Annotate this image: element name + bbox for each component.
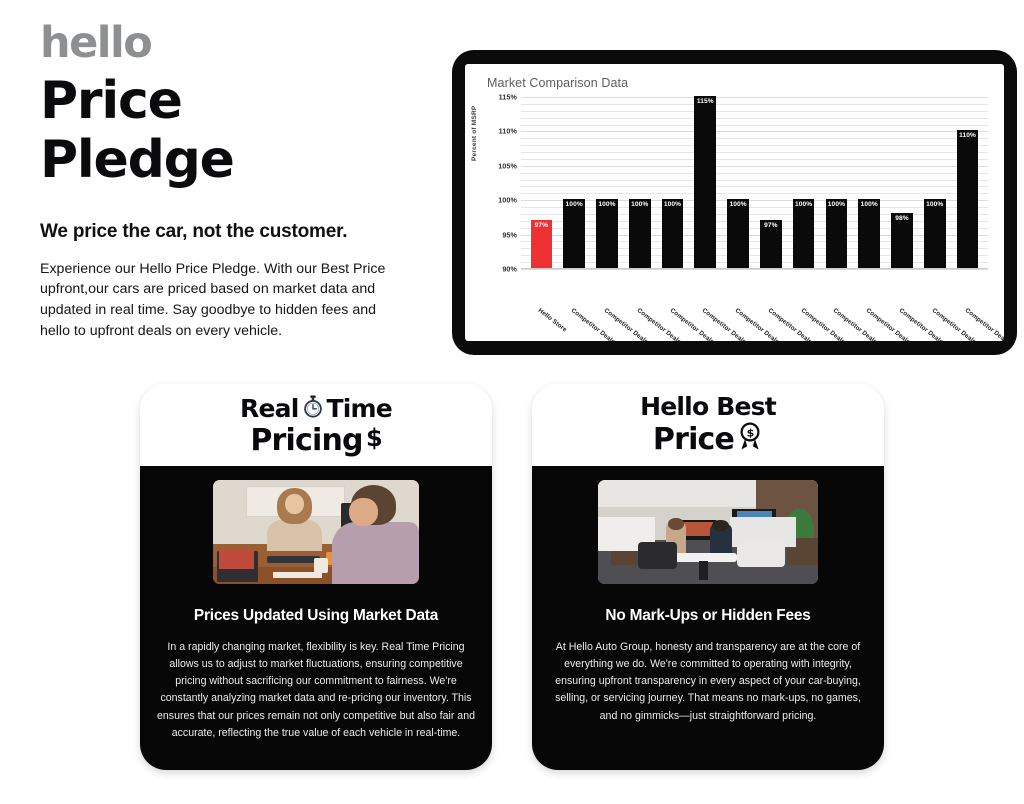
chart-bar-slot: 100% bbox=[591, 97, 624, 268]
card-right-body-text: At Hello Auto Group, honesty and transpa… bbox=[548, 639, 868, 725]
chart-bar-value-label: 100% bbox=[629, 201, 651, 208]
chart-bar[interactable]: 100% bbox=[793, 199, 815, 268]
hero-body-text: Experience our Hello Price Pledge. With … bbox=[40, 259, 398, 343]
chart-x-label-slot: Competitor Dealership bbox=[754, 305, 787, 341]
chart-y-tick: 100% bbox=[498, 196, 517, 205]
award-ribbon-icon: $ bbox=[737, 421, 763, 458]
card-right-head-line-2: Price $ bbox=[653, 421, 763, 458]
chart-bar-value-label: 100% bbox=[662, 201, 684, 208]
chart-bar-value-label: 97% bbox=[760, 222, 782, 229]
chart-bar[interactable]: 100% bbox=[727, 199, 749, 268]
chart-bar-slot: 100% bbox=[787, 97, 820, 268]
chart-y-tick: 95% bbox=[502, 230, 517, 239]
card-left-body-text: In a rapidly changing market, flexibilit… bbox=[156, 639, 476, 742]
chart-bar-value-label: 100% bbox=[858, 201, 880, 208]
chart-bar-slot: 100% bbox=[853, 97, 886, 268]
chart-x-label-slot: Competitor Dealership bbox=[886, 305, 919, 341]
chart-bar-slot: 97% bbox=[754, 97, 787, 268]
chart-bar[interactable]: 100% bbox=[858, 199, 880, 268]
svg-text:$: $ bbox=[366, 425, 382, 451]
card-header-left: Real Time Pricing $ bbox=[140, 384, 492, 466]
feature-card-hello-best-price: Hello Best Price $ bbox=[532, 384, 884, 770]
page-title-line-2: Pledge bbox=[40, 131, 440, 190]
chart-bar[interactable]: 100% bbox=[596, 199, 618, 268]
chart-plot-area: Percent of MSRP 90%95%100%105%110%115% 9… bbox=[465, 97, 1004, 307]
chart-bar[interactable]: 110% bbox=[957, 130, 979, 268]
card-left-head-word-3: Pricing bbox=[250, 425, 362, 457]
card-left-head-word-2: Time bbox=[327, 396, 392, 422]
chart-bar-slot: 98% bbox=[886, 97, 919, 268]
chart-bar[interactable]: 100% bbox=[629, 199, 651, 268]
chart-x-tick-label: Competitor Dealership bbox=[963, 307, 1004, 341]
chart-bar-slot: 100% bbox=[656, 97, 689, 268]
card-right-heading: No Mark-Ups or Hidden Fees bbox=[605, 607, 810, 625]
chart-x-label-slot: Competitor Dealership bbox=[787, 305, 820, 341]
chart-bar-value-label: 115% bbox=[694, 98, 716, 105]
chart-bar[interactable]: 115% bbox=[694, 96, 716, 268]
card-right-head-line-1: Hello Best bbox=[640, 394, 776, 420]
card-left-head-line-2: Pricing $ bbox=[250, 425, 381, 458]
chart-x-label-slot: Competitor Dealership bbox=[853, 305, 886, 341]
tablet-device-frame: Market Comparison Data Percent of MSRP 9… bbox=[452, 50, 1017, 355]
chart-plot: 97%100%100%100%100%115%100%97%100%100%10… bbox=[521, 97, 988, 269]
chart-bar[interactable]: 98% bbox=[891, 213, 913, 268]
chart-y-tick: 105% bbox=[498, 161, 517, 170]
chart-x-label-slot: Competitor Dealership bbox=[918, 305, 951, 341]
hero-section: hello Price Pledge We price the car, not… bbox=[40, 22, 440, 342]
chart-bar[interactable]: 100% bbox=[563, 199, 585, 268]
chart-gridline bbox=[521, 269, 988, 270]
chart-x-label-slot: Competitor Dealership bbox=[951, 305, 984, 341]
chart-y-tick: 115% bbox=[499, 93, 517, 102]
card-body-left: Prices Updated Using Market Data In a ra… bbox=[140, 466, 492, 770]
card-left-head-line-1: Real Time bbox=[240, 395, 392, 424]
chart-bar-value-label: 100% bbox=[563, 201, 585, 208]
chart-bar-slot: 100% bbox=[623, 97, 656, 268]
chart-bar[interactable]: 97% bbox=[531, 220, 553, 268]
chart-x-label-slot: Competitor Dealership bbox=[623, 305, 656, 341]
chart-bar-slot: 100% bbox=[820, 97, 853, 268]
card-left-head-word-1: Real bbox=[240, 396, 298, 422]
chart-x-label-slot: Competitor Dealership bbox=[689, 305, 722, 341]
chart-bar[interactable]: 100% bbox=[662, 199, 684, 268]
chart-y-tick: 90% bbox=[502, 265, 517, 274]
chart-x-label-slot: Competitor Dealership bbox=[656, 305, 689, 341]
dollar-sign-icon: $ bbox=[366, 425, 382, 458]
card-right-photo bbox=[598, 480, 818, 584]
chart-title: Market Comparison Data bbox=[487, 76, 628, 90]
chart-x-label-slot: Competitor Dealership bbox=[558, 305, 591, 341]
card-right-head-word-2: Price bbox=[653, 424, 734, 456]
chart-bar-value-label: 100% bbox=[727, 201, 749, 208]
card-header-right: Hello Best Price $ bbox=[532, 384, 884, 466]
chart-bar-slot: 97% bbox=[525, 97, 558, 268]
hello-logo: hello bbox=[40, 22, 440, 65]
chart-bar-value-label: 98% bbox=[891, 215, 913, 222]
chart-x-label-slot: Competitor Dealership bbox=[722, 305, 755, 341]
chart-bars: 97%100%100%100%100%115%100%97%100%100%10… bbox=[521, 97, 988, 268]
chart-bar-value-label: 97% bbox=[531, 222, 553, 229]
chart-x-label-slot: Competitor Dealership bbox=[591, 305, 624, 341]
chart-y-tick: 110% bbox=[499, 127, 517, 136]
page-title-line-1: Price bbox=[40, 72, 440, 131]
chart-bar-slot: 100% bbox=[558, 97, 591, 268]
chart-bar-slot: 110% bbox=[951, 97, 984, 268]
chart-bar-slot: 115% bbox=[689, 97, 722, 268]
chart-bar[interactable]: 100% bbox=[924, 199, 946, 268]
hero-subheadline: We price the car, not the customer. bbox=[40, 221, 440, 243]
chart-bar-slot: 100% bbox=[722, 97, 755, 268]
card-body-right: No Mark-Ups or Hidden Fees At Hello Auto… bbox=[532, 466, 884, 770]
chart-y-axis-label: Percent of MSRP bbox=[471, 106, 478, 161]
chart-bar-value-label: 110% bbox=[957, 132, 979, 139]
price-pledge-page: hello Price Pledge We price the car, not… bbox=[0, 0, 1024, 804]
feature-card-real-time-pricing: Real Time Pricing $ bbox=[140, 384, 492, 770]
tablet-screen: Market Comparison Data Percent of MSRP 9… bbox=[465, 64, 1004, 341]
chart-bar[interactable]: 100% bbox=[826, 199, 848, 268]
chart-x-label-slot: Competitor Dealership bbox=[820, 305, 853, 341]
chart-bar-slot: 100% bbox=[918, 97, 951, 268]
chart-bar[interactable]: 97% bbox=[760, 220, 782, 268]
svg-text:$: $ bbox=[747, 427, 754, 440]
page-title: Price Pledge bbox=[40, 72, 440, 191]
stopwatch-icon bbox=[302, 395, 324, 424]
chart-x-label-slot: Hello Store bbox=[525, 305, 558, 341]
chart-y-axis-ticks: 90%95%100%105%110%115% bbox=[483, 97, 517, 269]
chart-bar-value-label: 100% bbox=[596, 201, 618, 208]
card-left-heading: Prices Updated Using Market Data bbox=[194, 607, 438, 625]
chart-bar-value-label: 100% bbox=[924, 201, 946, 208]
card-right-head-word-1: Hello Best bbox=[640, 394, 776, 420]
card-left-photo bbox=[213, 480, 419, 584]
chart-bar-value-label: 100% bbox=[793, 201, 815, 208]
chart-x-axis-labels: Hello StoreCompetitor DealershipCompetit… bbox=[521, 305, 988, 341]
chart-bar-value-label: 100% bbox=[826, 201, 848, 208]
